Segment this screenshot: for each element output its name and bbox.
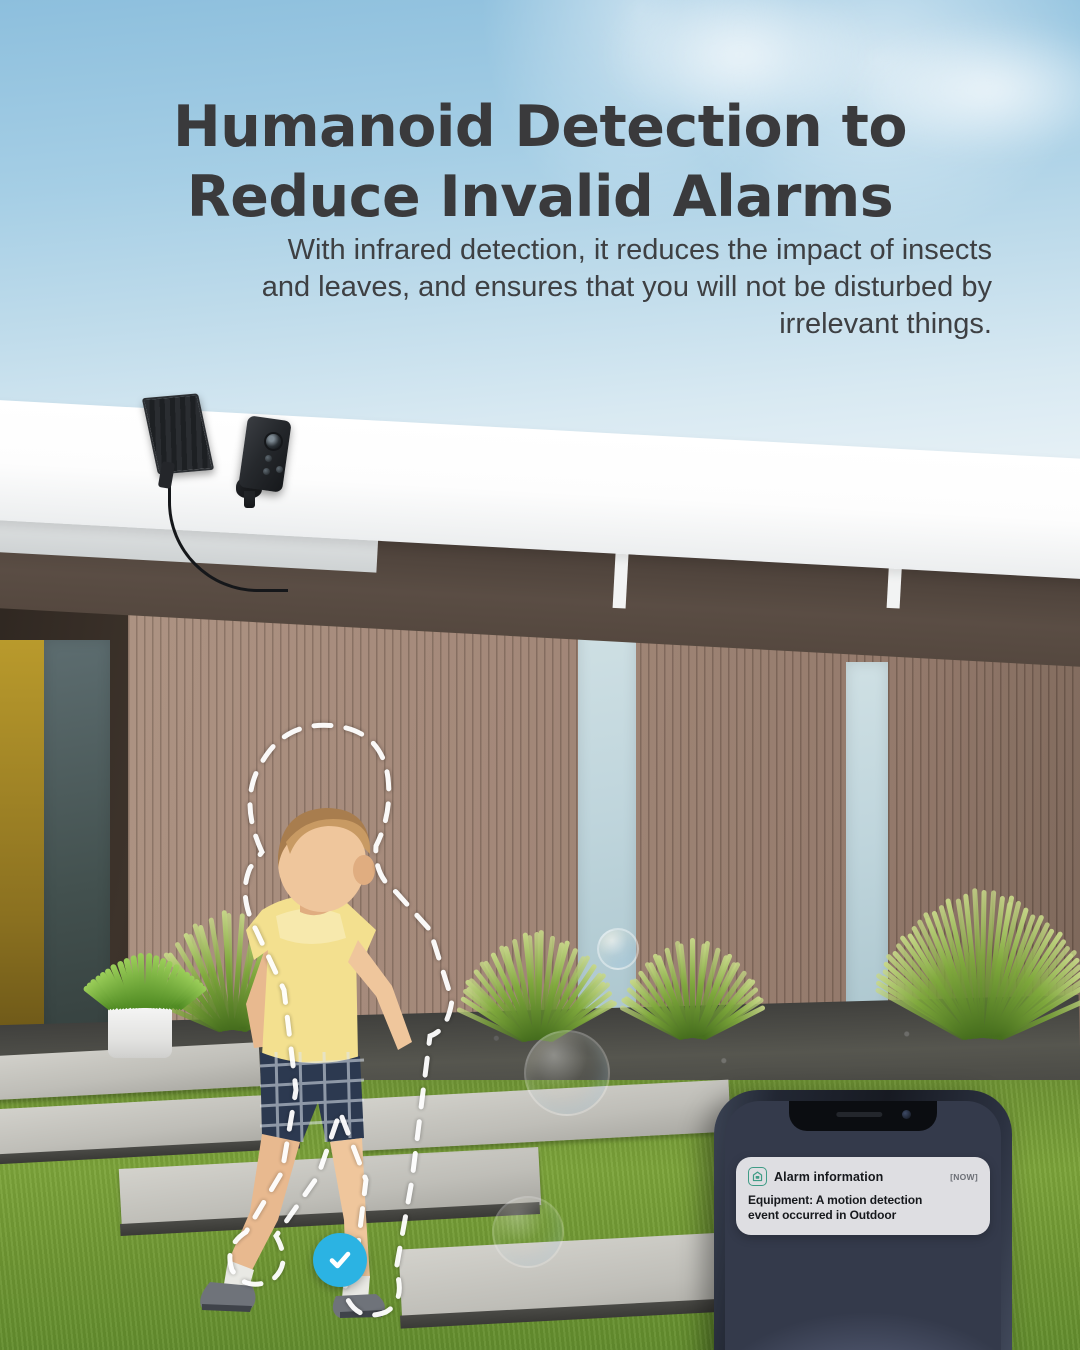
page-subtitle: With infrared detection, it reduces the … [250,232,992,343]
notification-body-line-2: event occurred in Outdoor [748,1208,978,1223]
soap-bubble [492,1196,564,1268]
camera-lens-icon [266,434,281,449]
alarm-app-icon [748,1167,767,1186]
smartphone: Alarm information [NOW] Equipment: A mot… [714,1090,1012,1350]
camera-house-glyph [752,1171,763,1182]
camera-mount-stem [244,491,255,508]
page-title: Humanoid Detection to Reduce Invalid Ala… [60,92,1020,232]
valid-detection-badge [313,1233,367,1287]
alarm-notification[interactable]: Alarm information [NOW] Equipment: A mot… [736,1157,990,1235]
entry-door [0,640,44,1040]
ornamental-grass [890,888,1070,1038]
ornamental-grass [630,938,750,1038]
notification-timestamp: [NOW] [950,1172,978,1182]
front-camera-icon [902,1110,911,1119]
soap-bubble [524,1030,610,1116]
camera-sensor-icon [263,468,270,475]
headline-line-1: Humanoid Detection to [60,92,1020,162]
earpiece-speaker-icon [836,1112,882,1117]
ornamental-grass [470,930,600,1040]
camera-ir-led-icon [265,455,272,462]
marketing-image: Humanoid Detection to Reduce Invalid Ala… [0,0,1080,1350]
camera-ir-led-icon [276,466,283,473]
soap-bubble [597,928,639,970]
phone-screen[interactable]: Alarm information [NOW] Equipment: A mot… [725,1101,1001,1350]
notification-title: Alarm information [774,1170,883,1184]
phone-notch [789,1101,937,1131]
notification-body-line-1: Equipment: A motion detection [748,1193,978,1208]
notification-header: Alarm information [NOW] [748,1167,978,1186]
notification-body: Equipment: A motion detection event occu… [748,1193,978,1223]
headline-line-2: Reduce Invalid Alarms [60,162,1020,232]
check-icon [325,1245,355,1275]
